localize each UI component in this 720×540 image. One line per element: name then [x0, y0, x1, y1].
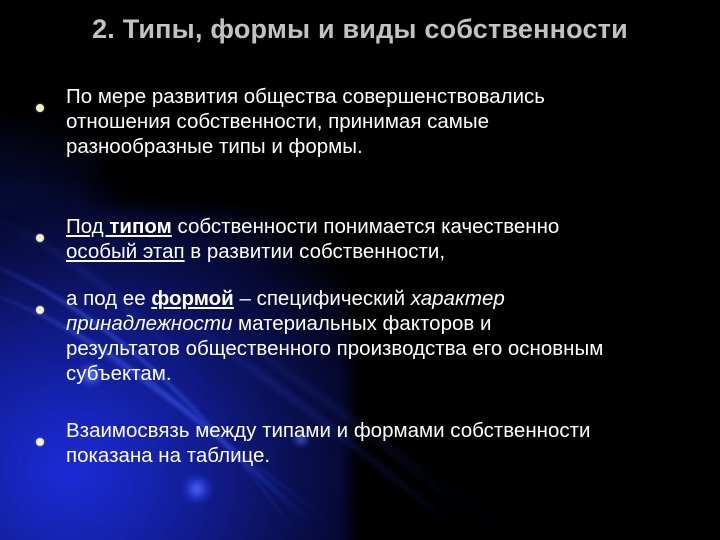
bullet-dot-icon — [36, 286, 66, 320]
bullet-run: По мере развития общества совершенствова… — [66, 85, 545, 158]
bullet-text-1: По мере развития общества совершенствова… — [66, 84, 606, 159]
bullet-run-emphasis: особый этап — [66, 240, 185, 263]
bullet-run: – специфический — [234, 287, 411, 310]
bullet-run: собственности понимается качественно — [172, 215, 560, 238]
bullet-run-emphasis: типом — [109, 215, 171, 238]
presentation-slide: 2. Типы, формы и виды собственности По м… — [0, 0, 720, 540]
bullet-run-emphasis: формой — [151, 287, 233, 310]
slide-body: По мере развития общества совершенствова… — [36, 84, 656, 468]
background-node-icon — [182, 474, 212, 504]
spacer — [36, 264, 656, 286]
bullet-dot-icon — [36, 418, 66, 452]
bullet-text-4: Взаимосвязь между типами и формами собст… — [66, 418, 606, 468]
bullet-run: Под — [66, 215, 109, 238]
slide-title: 2. Типы, формы и виды собственности — [0, 14, 720, 45]
bullet-run: в развитии собственности, — [185, 240, 446, 263]
bullet-dot-icon — [36, 84, 66, 118]
bullet-item-2: Под типом собственности понимается качес… — [36, 214, 656, 264]
bullet-item-1: По мере развития общества совершенствова… — [36, 84, 656, 159]
bullet-text-2: Под типом собственности понимается качес… — [66, 214, 606, 264]
spacer — [36, 159, 656, 214]
bullet-item-4: Взаимосвязь между типами и формами собст… — [36, 418, 656, 468]
bullet-run: Взаимосвязь между типами и формами собст… — [66, 419, 590, 467]
spacer — [36, 386, 656, 418]
bullet-text-3: а под ее формой – специфический характер… — [66, 286, 606, 386]
bullet-dot-icon — [36, 214, 66, 248]
bullet-item-3: а под ее формой – специфический характер… — [36, 286, 656, 386]
bullet-run: а под ее — [66, 287, 151, 310]
